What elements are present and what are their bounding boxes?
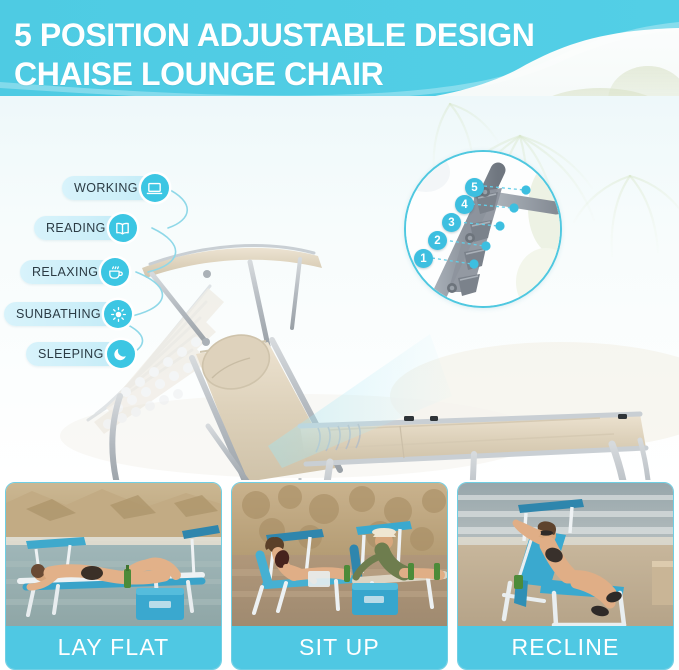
panel-recline-caption: RECLINE — [458, 626, 673, 669]
badge-sunbathing[interactable]: SUNBATHING — [4, 302, 131, 326]
badge-reading[interactable]: READING — [34, 216, 136, 240]
product-scene-image — [0, 96, 679, 480]
open-book-icon — [109, 214, 137, 242]
badge-working[interactable]: WORKING — [62, 176, 168, 200]
ratchet-closeup-image — [406, 152, 562, 308]
badge-sleeping[interactable]: SLEEPING — [26, 342, 134, 366]
badge-sleeping-label: SLEEPING — [38, 347, 104, 361]
recline-photo — [458, 483, 674, 628]
position-marker-1: 1 — [414, 249, 433, 268]
badge-relaxing-label: RELAXING — [32, 265, 98, 279]
badge-working-label: WORKING — [74, 181, 138, 195]
position-marker-3: 3 — [442, 213, 461, 232]
ratchet-detail-inset: 1 2 3 4 5 — [404, 150, 562, 308]
panel-recline[interactable]: RECLINE — [457, 482, 674, 670]
moon-sleep-icon — [107, 340, 135, 368]
sun-icon — [104, 300, 132, 328]
badge-sunbathing-label: SUNBATHING — [16, 307, 101, 321]
position-marker-2: 2 — [428, 231, 447, 250]
sit-up-photo — [232, 483, 448, 628]
position-marker-4: 4 — [455, 195, 474, 214]
panel-lay-flat-caption: LAY FLAT — [6, 626, 221, 669]
badge-reading-label: READING — [46, 221, 106, 235]
position-examples-row: LAY FLAT — [0, 482, 679, 670]
panel-sit-up[interactable]: SIT UP — [231, 482, 448, 670]
position-marker-5: 5 — [465, 178, 484, 197]
title-line-2: CHAISE LOUNGE CHAIR — [14, 55, 634, 94]
laptop-icon — [141, 174, 169, 202]
main-product-stage: WORKING READING — [0, 96, 679, 480]
page-title: 5 POSITION ADJUSTABLE DESIGN CHAISE LOUN… — [14, 16, 634, 94]
infographic-root: 5 POSITION ADJUSTABLE DESIGN CHAISE LOUN… — [0, 0, 679, 670]
title-line-1: 5 POSITION ADJUSTABLE DESIGN — [14, 17, 534, 53]
panel-lay-flat[interactable]: LAY FLAT — [5, 482, 222, 670]
panel-sit-up-caption: SIT UP — [232, 626, 447, 669]
badge-relaxing[interactable]: RELAXING — [20, 260, 128, 284]
lay-flat-photo — [6, 483, 222, 628]
